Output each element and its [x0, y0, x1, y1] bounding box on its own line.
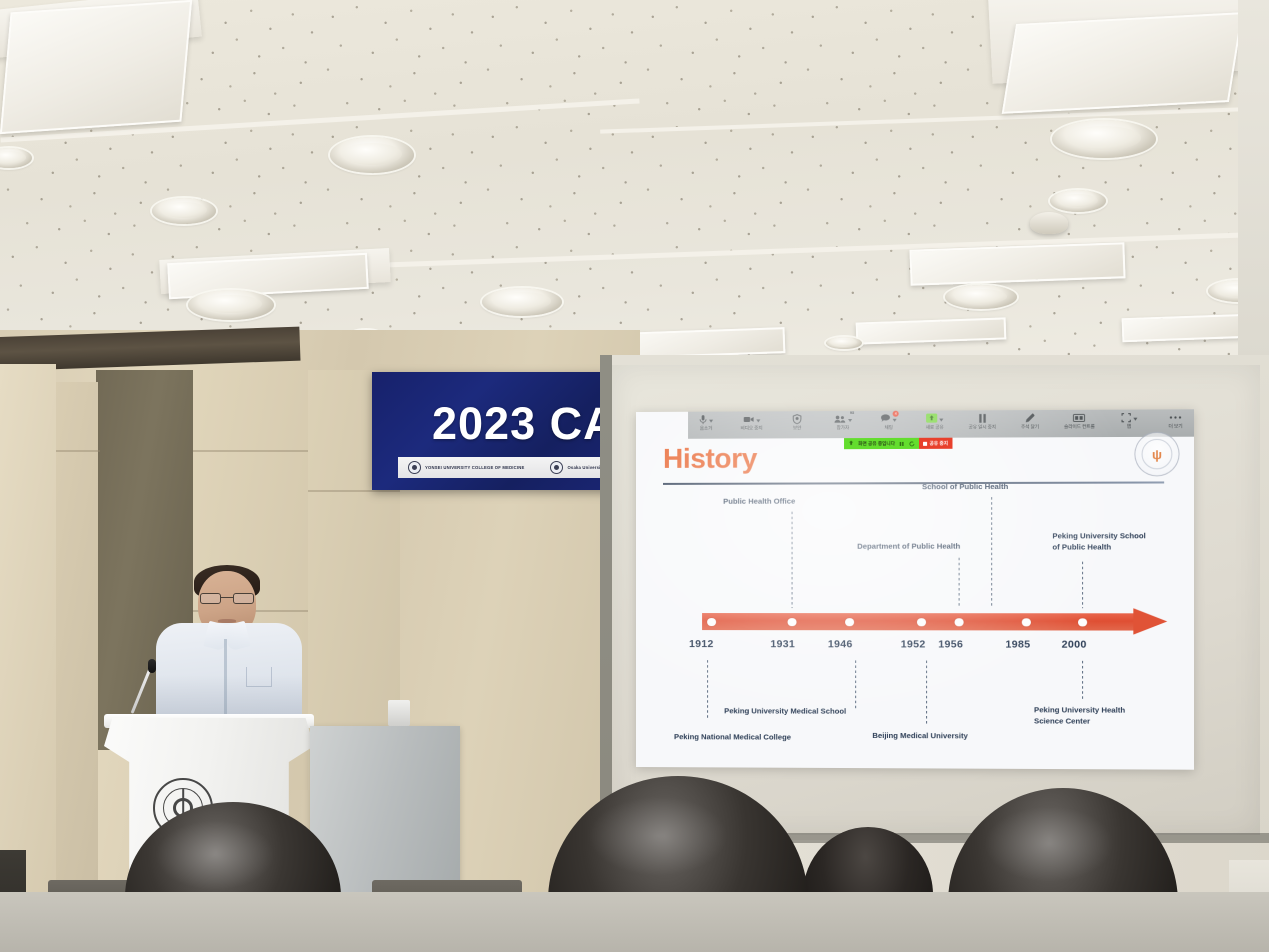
chevron-down-icon[interactable]	[939, 418, 943, 421]
timeline-year-1956: 1956	[938, 638, 963, 650]
zoom-mute-label: 음소거	[700, 426, 712, 432]
zoom-new-share-label: 새로 공유	[926, 425, 944, 431]
timeline-dot-1946	[845, 618, 854, 627]
yonsei-seal-icon	[408, 461, 421, 474]
slide-control-icon	[1073, 413, 1085, 421]
hair-highlight	[588, 796, 728, 876]
timeline-connector-1956	[991, 497, 992, 608]
screen-share-status-bar: 화면 공유 중입니다 공유 중지	[844, 438, 952, 450]
microphone-icon	[699, 414, 707, 424]
timeline-label-school-of-public-health: School of Public Health	[922, 482, 1008, 493]
zoom-participants-label: 참가자	[837, 425, 850, 431]
zoom-participants-button[interactable]: 93 참가자	[831, 412, 855, 431]
ceiling-downlight-5	[482, 288, 562, 316]
zoom-stop-video-button[interactable]: 비디오 중지	[739, 412, 763, 431]
hair-highlight	[155, 820, 275, 890]
zoom-annotate-label: 주석 달기	[1021, 424, 1039, 430]
zoom-map-label: 맵	[1127, 424, 1131, 430]
share-check-icon	[848, 440, 854, 447]
wall-seam-2	[193, 450, 308, 452]
banner-title: 2023 CAM	[432, 398, 612, 450]
ceiling-downlight-9	[945, 285, 1017, 309]
wall-panel-a	[0, 364, 56, 924]
zoom-security-label: 보안	[793, 425, 801, 431]
peking-university-seal-icon: ψ	[1134, 432, 1179, 477]
timeline-dot-1952	[917, 618, 926, 627]
stop-share-button[interactable]: 공유 중지	[919, 438, 952, 449]
stop-share-label: 공유 중지	[930, 440, 948, 446]
chevron-down-icon[interactable]	[1133, 417, 1137, 420]
wall-seam-1	[56, 450, 100, 452]
timeline-year-1931: 1931	[770, 638, 795, 650]
zoom-more-button[interactable]: 더 보기	[1163, 410, 1188, 429]
timeline-year-1912: 1912	[689, 638, 714, 650]
timeline-label-public-health-office: Public Health Office	[723, 497, 795, 508]
banner-logo-1: YONSEI UNIVERSITY COLLEGE OF MEDICINE	[408, 461, 524, 474]
zoom-more-label: 더 보기	[1169, 424, 1183, 430]
wall-panel-b	[56, 382, 98, 927]
chevron-down-icon[interactable]	[893, 418, 897, 421]
floor	[0, 892, 1269, 952]
ceiling-vent-7	[1122, 314, 1253, 343]
banner-logo-2: Osaka University Graduate School of Medi…	[550, 461, 606, 474]
share-status-text: 화면 공유 중입니다	[858, 440, 895, 446]
timeline-dot-1985	[1022, 618, 1031, 627]
timeline-label-peking-university-school-of-public-health: Peking University School of Public Healt…	[1052, 531, 1155, 552]
pencil-icon	[1025, 413, 1035, 423]
timeline-connector-1952	[959, 558, 960, 608]
participants-icon	[834, 414, 846, 422]
timeline-dot-2000	[1078, 618, 1087, 627]
timeline-label-peking-university-medical-school: Peking University Medical School	[724, 706, 846, 717]
pause-icon	[978, 413, 987, 423]
ceiling-smoke-detector	[1030, 212, 1068, 234]
zoom-meeting-toolbar[interactable]: 음소거 비디오 중지 보안	[688, 409, 1194, 439]
timeline-connector-1931	[792, 512, 793, 608]
banner-logo-strip: YONSEI UNIVERSITY COLLEGE OF MEDICINE Os…	[398, 457, 606, 478]
ceiling-downlight-3	[330, 137, 414, 173]
slide-title: History	[663, 443, 757, 475]
osaka-seal-icon	[550, 461, 563, 474]
speaker-glasses-right-lens	[233, 593, 254, 604]
ceiling-vent-5	[1002, 12, 1244, 114]
zoom-security-button[interactable]: 보안	[785, 412, 809, 431]
timeline-label-peking-national-medical-college: Peking National Medical College	[674, 732, 791, 743]
chevron-down-icon[interactable]	[756, 419, 760, 422]
zoom-map-button[interactable]: 맵	[1117, 411, 1142, 430]
share-screen-icon	[926, 414, 937, 423]
banner-logo-1-label: YONSEI UNIVERSITY COLLEGE OF MEDICINE	[425, 465, 524, 470]
fullscreen-icon	[1121, 412, 1131, 422]
zoom-pause-share-button[interactable]: 공유 일시 중지	[968, 411, 996, 430]
event-banner: 2023 CAM YONSEI UNIVERSITY COLLEGE OF ME…	[372, 372, 612, 490]
zoom-slide-control-label: 슬라이드 컨트롤	[1064, 424, 1095, 430]
chevron-down-icon[interactable]	[848, 418, 852, 421]
projected-slide: 음소거 비디오 중지 보안	[636, 409, 1194, 769]
ceiling-vent-4	[909, 242, 1125, 285]
slide-title-rule	[663, 481, 1164, 484]
timeline-arrow	[702, 608, 1167, 635]
timeline-year-1946: 1946	[828, 638, 853, 650]
zoom-pause-share-label: 공유 일시 중지	[968, 424, 996, 430]
more-ellipsis-icon	[1169, 415, 1181, 419]
chat-bubble-icon	[881, 414, 891, 423]
projection-screen-left-edge	[600, 355, 612, 840]
lecture-hall-photo: 2023 CAM YONSEI UNIVERSITY COLLEGE OF ME…	[0, 0, 1269, 952]
zoom-annotate-button[interactable]: 주석 달기	[1018, 411, 1043, 430]
ceiling	[0, 0, 1269, 372]
wall-seam-4	[308, 490, 400, 492]
zoom-chat-button[interactable]: 4 채팅	[877, 412, 901, 431]
zoom-stop-video-label: 비디오 중지	[741, 425, 763, 431]
timeline-dot-1931	[788, 618, 797, 627]
timeline-label-beijing-medical-university: Beijing Medical University	[872, 731, 968, 742]
speaker-glasses-bridge	[221, 597, 233, 598]
seal-inner-glyph: ψ	[1142, 439, 1173, 470]
timeline-arrowhead	[1133, 608, 1167, 634]
ceiling-downlight-4	[188, 290, 274, 320]
timeline-connector-1912-bottom	[707, 660, 708, 720]
timeline-dot-1956	[955, 618, 964, 627]
timeline-dot-1912	[707, 618, 716, 627]
stop-square-icon	[923, 441, 927, 445]
video-camera-icon	[743, 415, 754, 423]
shield-icon	[793, 414, 802, 424]
timeline-connector-1946-bottom	[855, 660, 856, 710]
microphone-capsule-icon	[148, 659, 156, 673]
ceiling-downlight-8	[1050, 190, 1106, 212]
side-table-object	[388, 700, 410, 726]
timeline-label-peking-university-health-science-center: Peking University Health Science Center	[1034, 705, 1143, 727]
timeline-connector-2000-bottom	[1082, 661, 1083, 701]
chat-unread-badge: 4	[893, 411, 899, 417]
timeline-label-department-of-public-health: Department of Public Health	[857, 542, 960, 553]
speaker-glasses-left-lens	[200, 593, 221, 604]
share-refresh-icon	[909, 440, 915, 446]
ceiling-right-edge-panel	[1238, 0, 1269, 360]
ceiling-downlight-7	[1052, 120, 1156, 158]
share-pause-icon	[899, 440, 905, 446]
ceiling-vent-1	[0, 0, 192, 134]
timeline-year-2000: 2000	[1062, 639, 1087, 651]
timeline-connector-2000-top	[1082, 562, 1083, 609]
chevron-down-icon[interactable]	[709, 419, 713, 422]
timeline-connector-1952-bottom	[926, 661, 927, 726]
speaker-glasses-icon	[200, 593, 254, 604]
timeline-year-1985: 1985	[1005, 638, 1030, 650]
ceiling-downlight-11	[826, 337, 862, 349]
timeline-year-1952: 1952	[901, 638, 926, 650]
zoom-chat-label: 채팅	[884, 425, 892, 431]
ceiling-downlight-2	[152, 198, 216, 224]
zoom-slide-control-button[interactable]: 슬라이드 컨트롤	[1064, 411, 1095, 430]
share-status-pill: 화면 공유 중입니다	[844, 438, 919, 449]
zoom-new-share-button[interactable]: 새로 공유	[922, 411, 946, 430]
zoom-mute-button[interactable]: 음소거	[694, 413, 718, 432]
participants-count-badge: 93	[850, 411, 854, 415]
hair-highlight	[984, 806, 1114, 882]
